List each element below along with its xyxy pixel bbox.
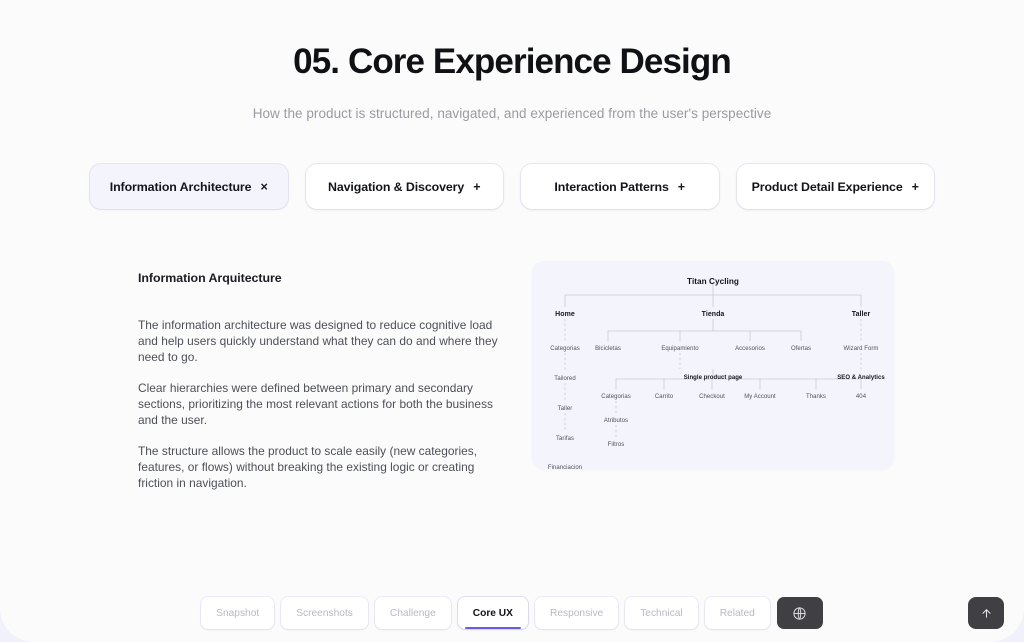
sitemap-connectors [532, 261, 894, 469]
sitemap-diagram: Titan Cycling Home Tienda Taller Categor… [532, 261, 894, 469]
sitemap-node-home: Home [555, 311, 575, 318]
page-title: 05. Core Experience Design [0, 42, 1024, 82]
tab-label: Navigation & Discovery [328, 180, 464, 194]
paragraph: The structure allows the product to scal… [138, 444, 498, 491]
sitemap-node-single-product-page: Single product page [684, 375, 743, 381]
nav-pill-responsive[interactable]: Responsive [535, 597, 618, 629]
nav-pill-technical[interactable]: Technical [625, 597, 697, 629]
sitemap-node-financiacion: Financiacion [548, 465, 582, 471]
nav-pill-label: Technical [640, 608, 682, 619]
sitemap-node-wizard-form: Wizard Form [844, 346, 879, 352]
page-header: 05. Core Experience Design How the produ… [0, 0, 1024, 121]
nav-pill-related[interactable]: Related [705, 597, 770, 629]
body-copy: The information architecture was designe… [138, 318, 498, 491]
nav-pill-label: Snapshot [216, 608, 259, 619]
bottom-nav-bar: Snapshot Screenshots Challenge Core UX R… [0, 597, 1024, 629]
sitemap-node-my-account: My Account [744, 394, 776, 400]
sitemap-node-tarifas: Tarifas [556, 436, 574, 442]
nav-pill-label: Screenshots [296, 608, 353, 619]
sitemap-node-checkout: Checkout [699, 394, 725, 400]
panel-diagram-column: Titan Cycling Home Tienda Taller Categor… [516, 261, 894, 491]
tab-label: Interaction Patterns [554, 180, 668, 194]
sitemap-node-categorias-2: Categorias [601, 394, 631, 400]
paragraph: The information architecture was designe… [138, 318, 498, 365]
tab-navigation-discovery[interactable]: Navigation & Discovery + [306, 164, 504, 209]
accordion-tab-list: Information Architecture × Navigation & … [0, 164, 1024, 209]
plus-icon[interactable]: + [473, 181, 480, 194]
paragraph: Clear hierarchies were defined between p… [138, 381, 498, 428]
sitemap-node-accesorios: Accesorios [735, 346, 765, 352]
language-globe-button[interactable] [777, 597, 823, 629]
sitemap-node-bicicletas: Bicicletas [595, 346, 621, 352]
sitemap-node-atributos: Atributos [604, 418, 628, 424]
page-subtitle: How the product is structured, navigated… [0, 106, 1024, 121]
nav-pill-challenge[interactable]: Challenge [375, 597, 451, 629]
tab-label: Information Architecture [110, 180, 252, 194]
plus-icon[interactable]: + [912, 181, 919, 194]
sitemap-node-equipamiento: Equipamiento [661, 346, 698, 352]
nav-pill-label: Related [720, 608, 755, 619]
tab-interaction-patterns[interactable]: Interaction Patterns + [521, 164, 719, 209]
nav-pill-label: Core UX [473, 608, 513, 619]
panel-text-column: Information Arquitecture The information… [138, 261, 498, 491]
page-root: 05. Core Experience Design How the produ… [0, 0, 1024, 642]
nav-pill-label: Responsive [550, 608, 603, 619]
nav-pill-snapshot[interactable]: Snapshot [201, 597, 274, 629]
plus-icon[interactable]: + [678, 181, 685, 194]
sitemap-node-ofertas: Ofertas [791, 346, 811, 352]
globe-icon [792, 606, 807, 621]
sitemap-node-tienda: Tienda [702, 311, 725, 318]
sitemap-node-root: Titan Cycling [687, 277, 739, 286]
arrow-up-icon [980, 607, 993, 620]
scroll-to-top-button[interactable] [968, 597, 1004, 629]
nav-pill-core-ux[interactable]: Core UX [458, 597, 528, 629]
nav-pill-screenshots[interactable]: Screenshots [281, 597, 368, 629]
close-icon[interactable]: × [260, 181, 267, 194]
sitemap-node-thanks: Thanks [806, 394, 826, 400]
sitemap-node-taller: Taller [852, 311, 870, 318]
tab-information-architecture[interactable]: Information Architecture × [90, 164, 288, 209]
sitemap-node-filtros: Filtros [608, 442, 625, 448]
section-heading: Information Arquitecture [138, 271, 498, 285]
sitemap-node-seo-analytics: SEO & Analytics [837, 375, 885, 381]
sitemap-node-carrito: Carrito [655, 394, 673, 400]
sitemap-node-taller-2: Taller [558, 406, 573, 412]
nav-pill-label: Challenge [390, 608, 436, 619]
sitemap-node-categorias: Categorias [550, 346, 580, 352]
tab-label: Product Detail Experience [752, 180, 903, 194]
tab-product-detail-experience[interactable]: Product Detail Experience + [737, 164, 935, 209]
sitemap-node-404: 404 [856, 394, 866, 400]
sitemap-node-tailored: Tailored [554, 376, 575, 382]
panel-content: Information Arquitecture The information… [0, 261, 1024, 491]
